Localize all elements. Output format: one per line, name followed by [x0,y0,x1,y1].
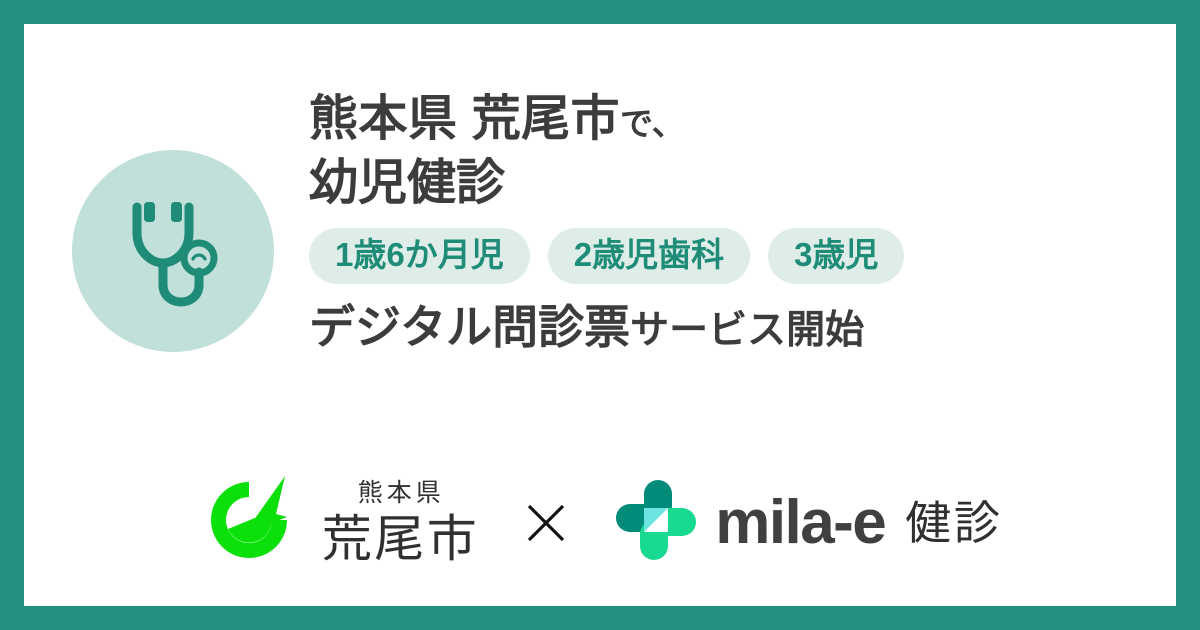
cross-separator-icon [523,500,569,546]
arao-city-logo-text: 熊本県 荒尾市 [319,481,479,564]
partner-logo-strip: 熊本県 荒尾市 [24,468,1176,577]
milae-logo: mila-e 健診 [613,477,1002,568]
service-status: サービス開始 [630,309,864,352]
checkup-pill-2year-dental: 2歳児歯科 [548,228,750,285]
milae-wordmark: mila-e [715,492,885,554]
arao-city-label: 荒尾市 [319,514,479,564]
checkup-pill-3year: 3歳児 [768,228,904,285]
headline-region: 熊本県 荒尾市 [309,92,620,146]
headline-particle: で、 [620,105,685,142]
banner-frame: 熊本県 荒尾市で、 幼児健診 1歳6か月児 2歳児歯科 3歳児 デジタル問診票サ… [0,0,1200,630]
checkup-type-pill-row: 1歳6か月児 2歳児歯科 3歳児 [309,228,1139,285]
headline-line-3: デジタル問診票サービス開始 [309,300,1139,355]
milae-cross-logo-mark-icon [613,477,699,568]
arao-city-logo-mark-icon [197,468,301,577]
service-name: デジタル問診票 [309,301,630,353]
arao-prefecture-label: 熊本県 [354,481,445,506]
stethoscope-icon-circle [72,150,274,352]
checkup-pill-18month: 1歳6か月児 [309,228,530,285]
headline-block: 熊本県 荒尾市で、 幼児健診 1歳6か月児 2歳児歯科 3歳児 デジタル問診票サ… [309,90,1139,355]
stethoscope-icon [111,189,235,313]
arao-city-logo: 熊本県 荒尾市 [197,468,479,577]
banner-card: 熊本県 荒尾市で、 幼児健診 1歳6か月児 2歳児歯科 3歳児 デジタル問診票サ… [24,24,1176,606]
headline-line-2: 幼児健診 [309,154,1139,214]
headline-line-1: 熊本県 荒尾市で、 [309,90,1139,150]
milae-service-label: 健診 [905,500,1003,546]
